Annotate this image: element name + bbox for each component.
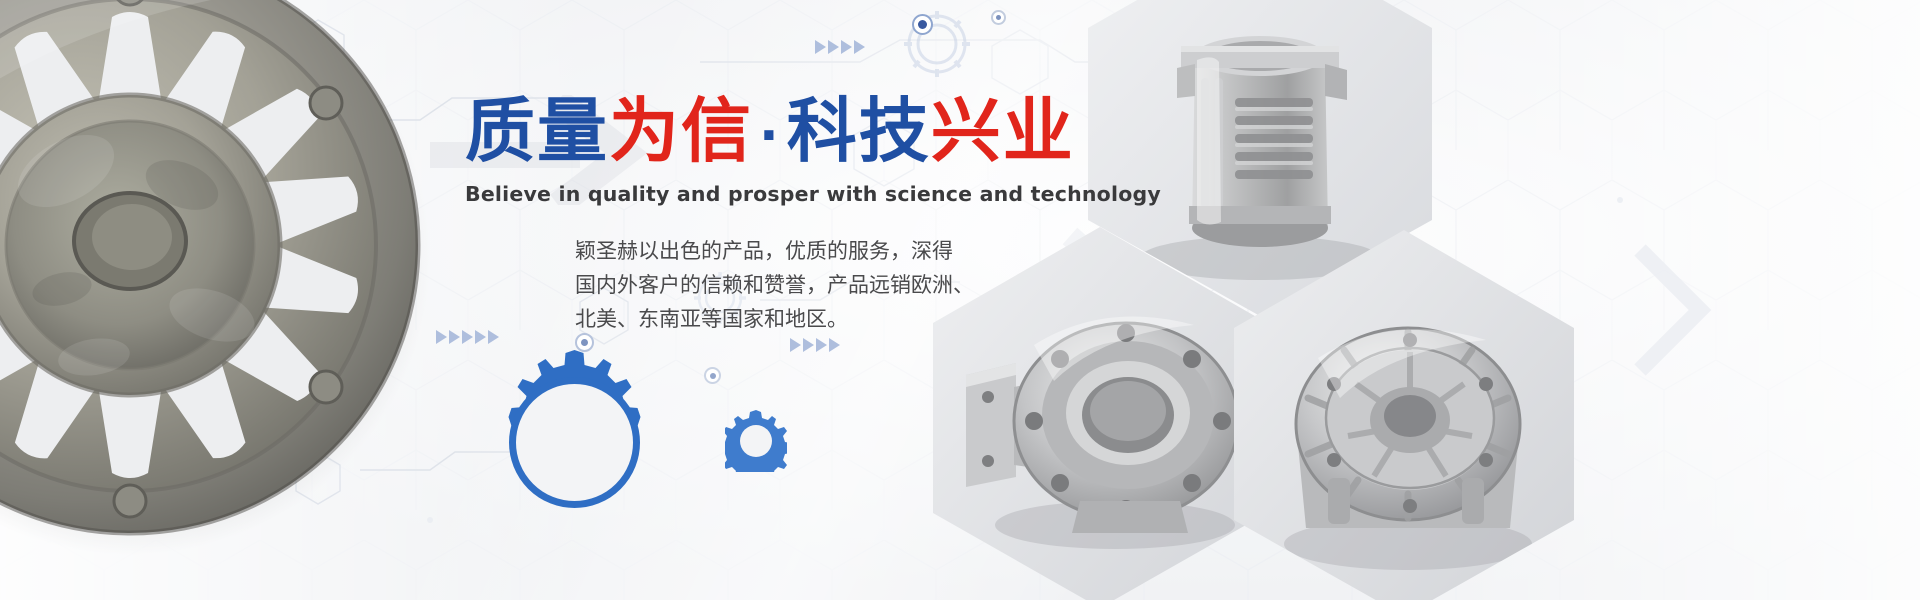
gear-large-icon (482, 350, 667, 535)
headline-separator: · (753, 106, 787, 166)
target-dot-icon (704, 367, 721, 384)
headline-part-1: 质量 (465, 90, 609, 172)
description-line-2: 国内外客户的信赖和赞誉，产品远销欧洲、 (575, 268, 1025, 302)
gear-outline-icon (898, 5, 976, 83)
description-line-3: 北美、东南亚等国家和地区。 (575, 302, 1025, 336)
description-line-1: 颖圣赫以出色的产品，优质的服务，深得 (575, 234, 1025, 268)
headline-part-2: 为信 (609, 90, 753, 172)
hub-casting-photo (1232, 228, 1577, 600)
gear-small-icon (725, 410, 787, 472)
subtitle-english: Believe in quality and prosper with scie… (465, 182, 1025, 206)
wheel-casting-photo (0, 0, 430, 600)
chevron-arrows-icon (815, 40, 865, 54)
description-paragraph: 颖圣赫以出色的产品，优质的服务，深得 国内外客户的信赖和赞誉，产品远销欧洲、 北… (575, 234, 1025, 336)
banner-copy: 质量为信·科技兴业 Believe in quality and prosper… (465, 96, 1025, 336)
target-dot-icon (991, 10, 1006, 25)
housing-casting-photo (1085, 0, 1435, 318)
hero-banner: 质量为信·科技兴业 Believe in quality and prosper… (0, 0, 1920, 600)
headline: 质量为信·科技兴业 (465, 96, 1025, 166)
chevron-arrows-icon (790, 338, 840, 352)
headline-part-4: 兴业 (931, 90, 1075, 172)
headline-part-3: 科技 (787, 90, 931, 172)
target-dot-icon (912, 14, 933, 35)
